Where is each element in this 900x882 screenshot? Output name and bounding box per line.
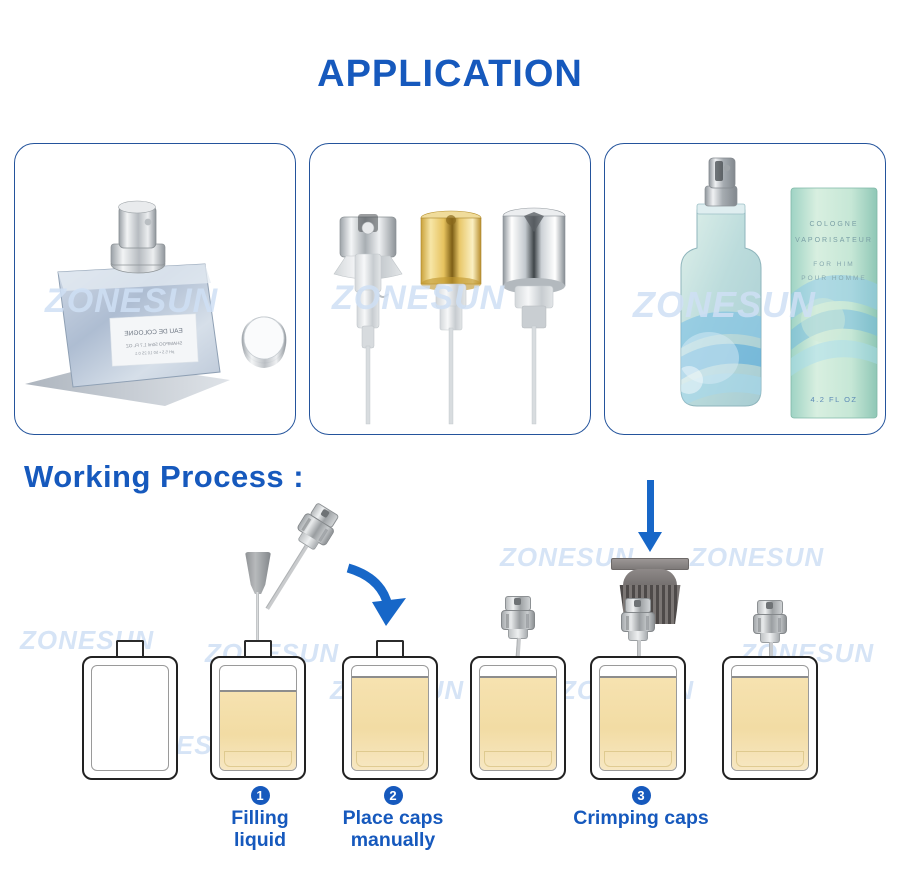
pump-spray-nozzle-icon: [766, 602, 773, 609]
svg-text:FOR HIM: FOR HIM: [813, 261, 854, 268]
page-title: APPLICATION: [0, 53, 900, 96]
pump-dip-tube: [266, 545, 309, 610]
filling-nozzle: [245, 552, 271, 594]
pump-spray-nozzle-icon: [514, 598, 521, 605]
bottle-body: [470, 656, 566, 780]
curved-arrow-place-cap: [340, 558, 430, 628]
bottle-inner: [91, 665, 169, 771]
liquid-fill: [352, 676, 428, 770]
bottle-empty: [82, 640, 178, 780]
bottle-inner: [351, 665, 429, 771]
bottle-inner: [479, 665, 557, 771]
pump-gold: [421, 211, 481, 424]
cologne-with-box-illustration: COLOGNE VAPORISATEUR FOR HIM POUR HOMME …: [605, 144, 886, 434]
application-page: APPLICATION: [0, 0, 900, 882]
arrow-shaft: [647, 480, 654, 534]
bottle-finished: [722, 640, 818, 780]
crimp-pumps-illustration: [310, 144, 591, 434]
step-3-label: Crimping caps: [555, 808, 727, 830]
arrow-head: [638, 532, 662, 552]
panel-3-image: COLOGNE VAPORISATEUR FOR HIM POUR HOMME …: [605, 144, 885, 434]
bottle-body: [210, 656, 306, 780]
pump-silver: [334, 214, 402, 424]
bottle-inner: [731, 665, 809, 771]
bottle-inner: [219, 665, 297, 771]
svg-text:COLOGNE: COLOGNE: [809, 221, 858, 228]
watermark-process-6: ZONESUN: [690, 542, 824, 573]
liquid-fill: [480, 676, 556, 770]
liquid-fill: [732, 676, 808, 770]
filling-nozzle-head: [245, 552, 271, 594]
liquid-fill: [600, 676, 676, 770]
bottle-filled-awaiting-cap: [342, 640, 438, 780]
panel-square-cologne-bottle: EAU DE COLOGNE SHAMPOO 50ml 1.7 FL OZ pH…: [14, 143, 296, 435]
svg-text:4.2 FL OZ: 4.2 FL OZ: [811, 395, 858, 404]
bottle-body: [590, 656, 686, 780]
square-bottle-illustration: EAU DE COLOGNE SHAMPOO 50ml 1.7 FL OZ pH…: [15, 144, 296, 434]
bottle-being-filled: [210, 640, 306, 780]
process-step-labels: 1 Filling liquid 2 Place caps manually 3…: [0, 786, 900, 882]
bottle-inner: [599, 665, 677, 771]
svg-text:POUR HOMME: POUR HOMME: [801, 275, 867, 282]
bottle-under-crimper: [590, 640, 686, 780]
liquid-fill: [220, 690, 296, 770]
panel-1-image: EAU DE COLOGNE SHAMPOO 50ml 1.7 FL OZ pH…: [15, 144, 295, 434]
step-3-badge: 3: [632, 786, 651, 805]
pump-crimp-collar: [753, 614, 787, 634]
pump-spray-nozzle-icon: [634, 600, 641, 607]
pump-chrome: [503, 208, 565, 424]
bottle-with-cap: [470, 640, 566, 780]
step-1-label: Filling liquid: [190, 808, 330, 852]
step-1-badge: 1: [251, 786, 270, 805]
application-photo-panels: EAU DE COLOGNE SHAMPOO 50ml 1.7 FL OZ pH…: [14, 143, 886, 435]
bottle-body: [722, 656, 818, 780]
step-1: 1 Filling liquid: [190, 786, 330, 852]
step-2-label: Place caps manually: [318, 808, 468, 852]
arrow-crimping-down: [638, 480, 662, 552]
step-3: 3 Crimping caps: [555, 786, 727, 830]
svg-text:VAPORISATEUR: VAPORISATEUR: [795, 237, 873, 244]
panel-crimp-pumps: ZONESUN: [309, 143, 591, 435]
step-2: 2 Place caps manually: [318, 786, 468, 852]
panel-cologne-bottle-with-box: COLOGNE VAPORISATEUR FOR HIM POUR HOMME …: [604, 143, 886, 435]
pump-crimp-collar: [501, 610, 535, 630]
pump-placed-loose: [501, 596, 535, 640]
bottle-body: [342, 656, 438, 780]
pump-crimp-collar: [621, 612, 655, 632]
panel-2-image: ZONESUN: [310, 144, 590, 434]
bottle-body: [82, 656, 178, 780]
pump-crimped-final: [753, 600, 787, 644]
pump-head: [291, 500, 343, 555]
step-2-badge: 2: [384, 786, 403, 805]
pump-being-crimped: [621, 598, 655, 642]
